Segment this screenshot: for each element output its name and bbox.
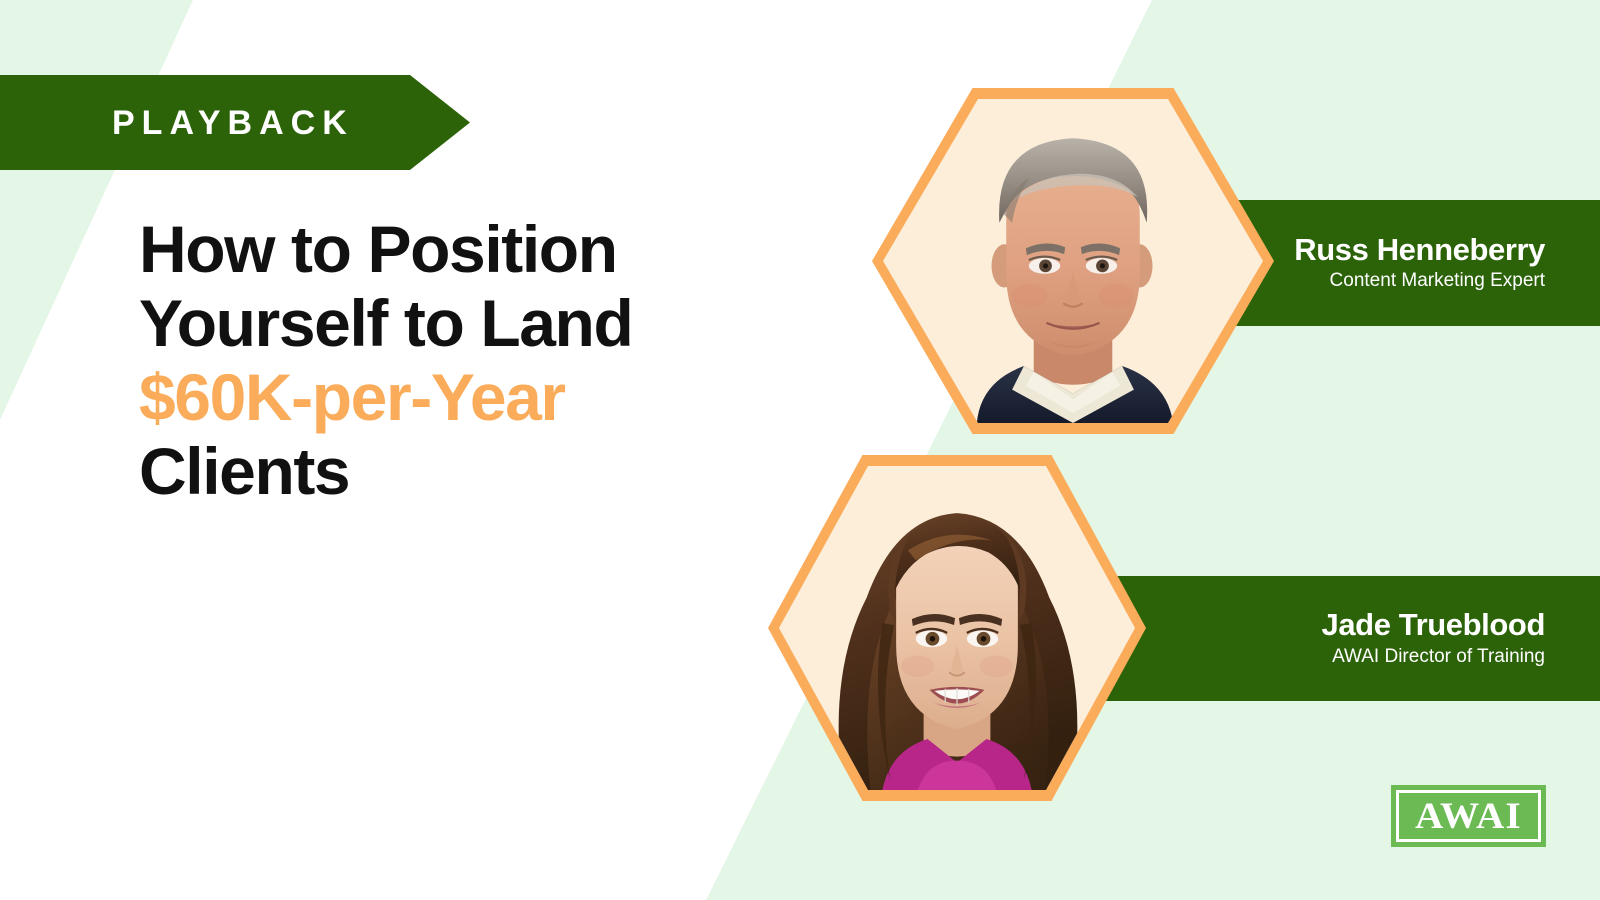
awai-logo-text: AWAI bbox=[1415, 798, 1522, 835]
promo-canvas: PLAYBACK How to Position Yourself to Lan… bbox=[0, 0, 1600, 900]
playback-badge: PLAYBACK bbox=[0, 75, 470, 170]
speaker-role: Content Marketing Expert bbox=[1330, 269, 1545, 294]
speaker-name: Jade Trueblood bbox=[1322, 607, 1546, 643]
headline-line-2: Yourself to Land bbox=[139, 287, 799, 361]
awai-logo: AWAI bbox=[1391, 785, 1546, 847]
portrait-jade-trueblood bbox=[779, 466, 1135, 790]
avatar-inner-frame bbox=[883, 99, 1263, 423]
portrait-russ-henneberry bbox=[883, 99, 1263, 423]
speaker-name: Russ Henneberry bbox=[1294, 232, 1545, 268]
page-title: How to Position Yourself to Land $60K-pe… bbox=[139, 213, 799, 509]
headline-line-3: Clients bbox=[139, 435, 799, 509]
speaker-role: AWAI Director of Training bbox=[1332, 645, 1545, 670]
headline-line-1: How to Position bbox=[139, 213, 799, 287]
playback-badge-label: PLAYBACK bbox=[112, 106, 354, 140]
speaker-plate-jade-trueblood: Jade Trueblood AWAI Director of Training bbox=[1100, 576, 1600, 701]
avatar-inner-frame bbox=[779, 466, 1135, 790]
headline-accent-price: $60K-per-Year bbox=[139, 361, 799, 435]
